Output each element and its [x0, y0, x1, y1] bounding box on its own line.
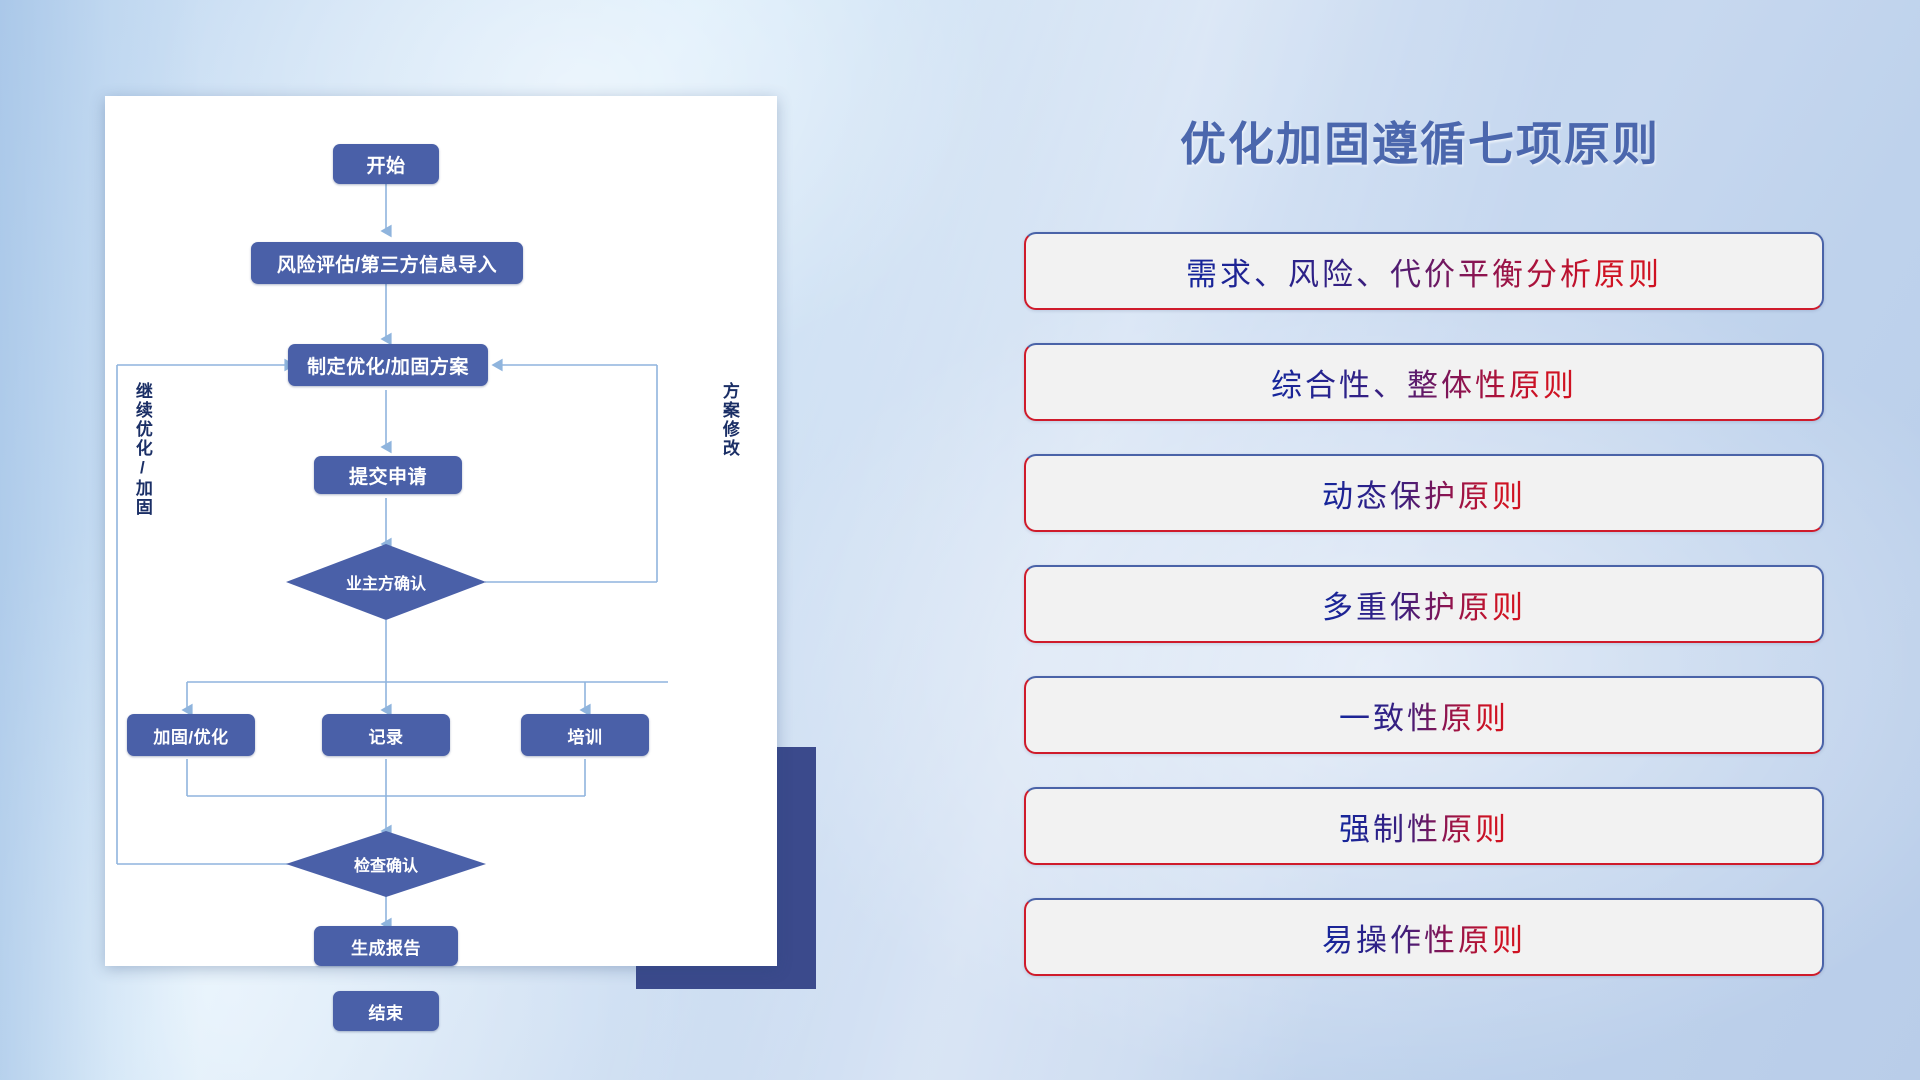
principle-label: 综合性、整体性原则	[1271, 360, 1577, 405]
flow-edge-label-plan-revision: 方案修改	[720, 382, 738, 458]
principle-label: 易操作性原则	[1322, 915, 1526, 960]
principle-card[interactable]: 一致性原则	[1024, 676, 1824, 754]
flow-edge-label-continue-optimize: 继续优化/加固	[133, 382, 151, 517]
principle-card[interactable]: 易操作性原则	[1024, 898, 1824, 976]
flow-node-label: 结束	[369, 999, 404, 1024]
principle-label: 需求、风险、代价平衡分析原则	[1186, 249, 1662, 294]
flow-node-training[interactable]: 培训	[521, 714, 649, 756]
flow-node-label: 生成报告	[351, 934, 421, 959]
flow-node-label: 业主方确认	[346, 570, 426, 594]
principles-list: 需求、风险、代价平衡分析原则 综合性、整体性原则 动态保护原则 多重保护原则 一…	[1024, 232, 1824, 1009]
flow-node-label: 提交申请	[349, 462, 427, 489]
principle-card[interactable]: 需求、风险、代价平衡分析原则	[1024, 232, 1824, 310]
principle-label: 动态保护原则	[1322, 471, 1526, 516]
flow-node-report[interactable]: 生成报告	[314, 926, 458, 966]
flow-node-label: 培训	[568, 723, 603, 748]
principle-card[interactable]: 综合性、整体性原则	[1024, 343, 1824, 421]
flow-decision-check-confirm[interactable]: 检查确认	[286, 831, 486, 897]
flow-node-reinforce[interactable]: 加固/优化	[127, 714, 255, 756]
flowchart-canvas: 开始 风险评估/第三方信息导入 制定优化/加固方案 提交申请 业主方确认 加固/…	[105, 96, 777, 966]
flow-node-submit[interactable]: 提交申请	[314, 456, 462, 494]
principles-panel: 优化加固遵循七项原则 需求、风险、代价平衡分析原则 综合性、整体性原则 动态保护…	[1020, 0, 1860, 1080]
principle-label: 一致性原则	[1339, 693, 1509, 738]
flow-node-label: 风险评估/第三方信息导入	[277, 250, 497, 277]
flow-node-plan[interactable]: 制定优化/加固方案	[288, 344, 488, 386]
flow-node-end[interactable]: 结束	[333, 991, 439, 1031]
flow-decision-owner-confirm[interactable]: 业主方确认	[286, 544, 486, 620]
flow-node-label: 记录	[369, 723, 404, 748]
flowchart-card: 开始 风险评估/第三方信息导入 制定优化/加固方案 提交申请 业主方确认 加固/…	[105, 96, 777, 966]
flow-node-label: 检查确认	[354, 852, 418, 876]
page-title: 优化加固遵循七项原则	[1020, 108, 1820, 174]
principle-label: 多重保护原则	[1322, 582, 1526, 627]
principle-card[interactable]: 强制性原则	[1024, 787, 1824, 865]
flow-node-start[interactable]: 开始	[333, 144, 439, 184]
principle-card[interactable]: 动态保护原则	[1024, 454, 1824, 532]
flow-node-label: 加固/优化	[153, 723, 228, 748]
principle-label: 强制性原则	[1339, 804, 1509, 849]
principle-card[interactable]: 多重保护原则	[1024, 565, 1824, 643]
flow-node-label: 开始	[366, 151, 405, 178]
flow-node-record[interactable]: 记录	[322, 714, 450, 756]
slide-canvas: 开始 风险评估/第三方信息导入 制定优化/加固方案 提交申请 业主方确认 加固/…	[0, 0, 1920, 1080]
flow-node-risk-assessment[interactable]: 风险评估/第三方信息导入	[251, 242, 523, 284]
flow-node-label: 制定优化/加固方案	[307, 352, 469, 379]
